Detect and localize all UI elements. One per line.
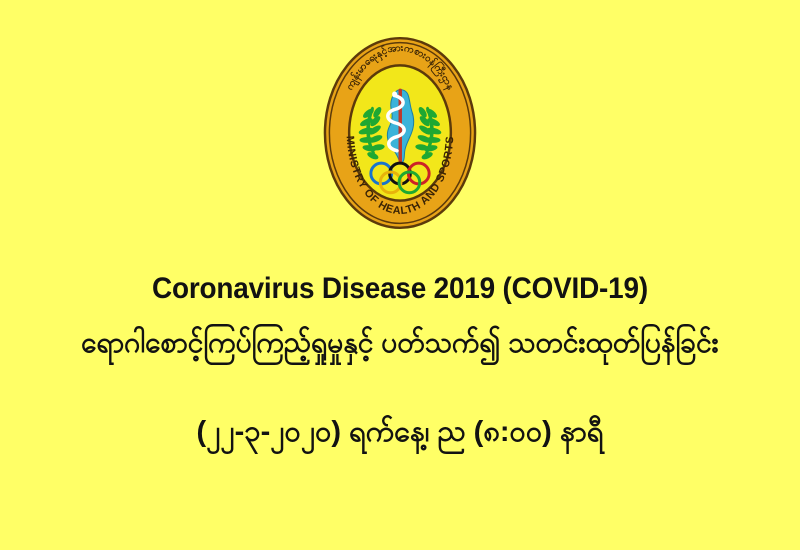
page-subtitle-burmese: ရောဂါစောင့်ကြပ်ကြည့်ရှုမှုနှင့် ပတ်သက်၍ … [12, 322, 788, 366]
announcement-datetime-burmese: (၂၂-၃-၂၀၂၀) ရက်နေ့၊ ည (၈:၀၀) နာရီ [0, 411, 800, 455]
announcement-slide: ကျန်းမာရေးနှင့်အားကစားဝန်ကြီးဌာန MINISTR… [0, 0, 800, 550]
page-title-english: Coronavirus Disease 2019 (COVID-19) [28, 270, 772, 308]
announcement-text-block: Coronavirus Disease 2019 (COVID-19) ရောဂ… [0, 270, 800, 455]
emblem-container: ကျန်းမာရေးနှင့်အားကစားဝန်ကြီးဌာန MINISTR… [0, 30, 800, 235]
ministry-seal-icon: ကျန်းမာရေးနှင့်အားကစားဝန်ကြီးဌာန MINISTR… [321, 33, 479, 233]
